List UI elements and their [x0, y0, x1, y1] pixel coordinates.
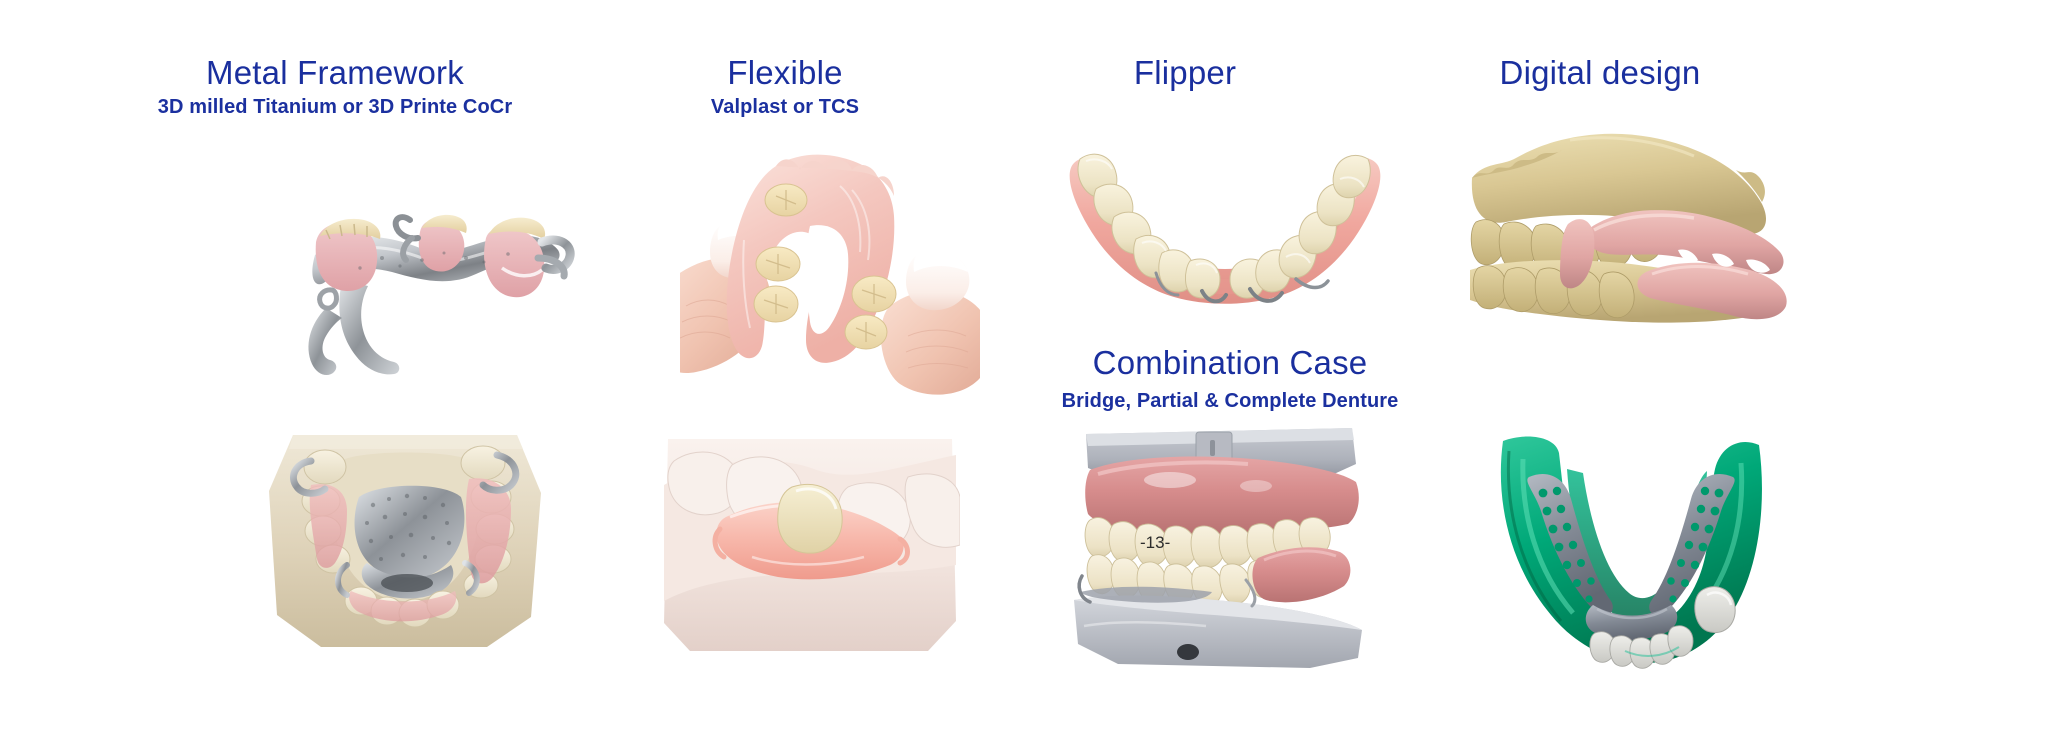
- combination-case-title: Combination Case: [1030, 345, 1430, 382]
- column-subtitle-flexible: Valplast or TCS: [680, 96, 890, 119]
- column-subtitle-metal-framework: 3D milled Titanium or 3D Printe CoCr: [155, 96, 515, 119]
- combination-case-subtitle: Bridge, Partial & Complete Denture: [1015, 390, 1445, 413]
- image-flipper-lower-appliance: [1060, 135, 1390, 310]
- column-title-digital-design: Digital design: [1455, 55, 1745, 92]
- column-title-metal-framework: Metal Framework: [175, 55, 495, 92]
- image-flexible-denture-in-hand: [680, 130, 980, 395]
- tooth-shade-label: -13-: [1140, 533, 1170, 552]
- image-flexible-single-tooth-on-model: [660, 425, 960, 675]
- column-title-flipper: Flipper: [1090, 55, 1280, 92]
- dental-product-showcase: Metal Framework 3D milled Titanium or 3D…: [0, 0, 2048, 743]
- image-metal-framework-on-model: [255, 405, 555, 665]
- image-metal-framework-appliance: [270, 140, 575, 400]
- column-title-flexible: Flexible: [690, 55, 880, 92]
- image-combination-case-articulator: -13-: [1060, 420, 1375, 670]
- image-digital-design-green-framework: [1465, 415, 1775, 675]
- image-digital-design-cad-render: [1450, 110, 1790, 325]
